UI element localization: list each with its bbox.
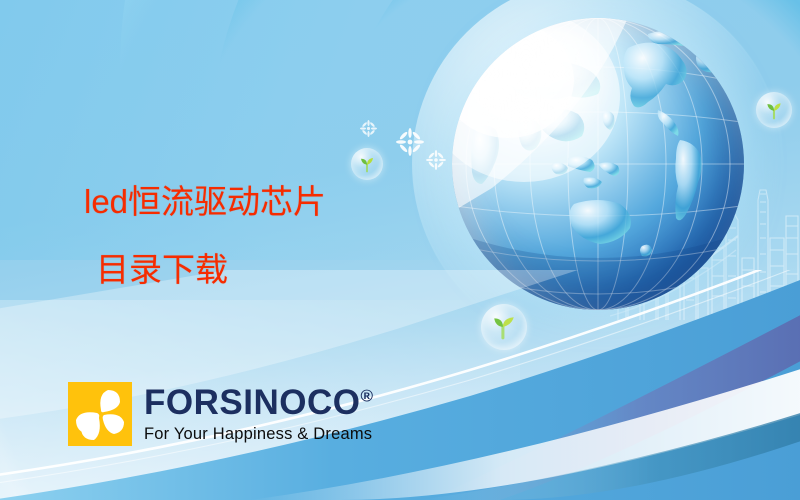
promo-banner: led恒流驱动芯片 目录下载 FORSINOCO® For Your Happi… — [0, 0, 800, 500]
pinwheel-petals — [68, 382, 132, 446]
brand-name: FORSINOCO® — [144, 385, 373, 420]
brand-tagline: For Your Happiness & Dreams — [144, 426, 373, 443]
headline-line-1: led恒流驱动芯片 — [84, 183, 326, 220]
brand-name-text: FORSINOCO — [144, 383, 360, 422]
page-title: led恒流驱动芯片 目录下载 — [84, 168, 326, 304]
globe-rim-light — [452, 18, 744, 310]
registered-trademark-icon: ® — [360, 387, 373, 406]
sprout-icon — [764, 100, 784, 120]
headline-line-2: 目录下载 — [84, 236, 326, 304]
starburst-icon-small — [360, 120, 377, 137]
starburst-icon — [396, 128, 424, 156]
brand-logo[interactable]: FORSINOCO® For Your Happiness & Dreams — [68, 382, 373, 446]
four-petal-pinwheel-icon — [68, 382, 132, 446]
starburst-icon-right — [426, 150, 446, 170]
logo-text-block: FORSINOCO® For Your Happiness & Dreams — [144, 385, 373, 443]
globe-icon — [452, 18, 744, 310]
sprout-icon — [358, 155, 376, 173]
bubble-sprout-icon — [351, 148, 383, 180]
bubble-sprout-icon — [756, 92, 792, 128]
